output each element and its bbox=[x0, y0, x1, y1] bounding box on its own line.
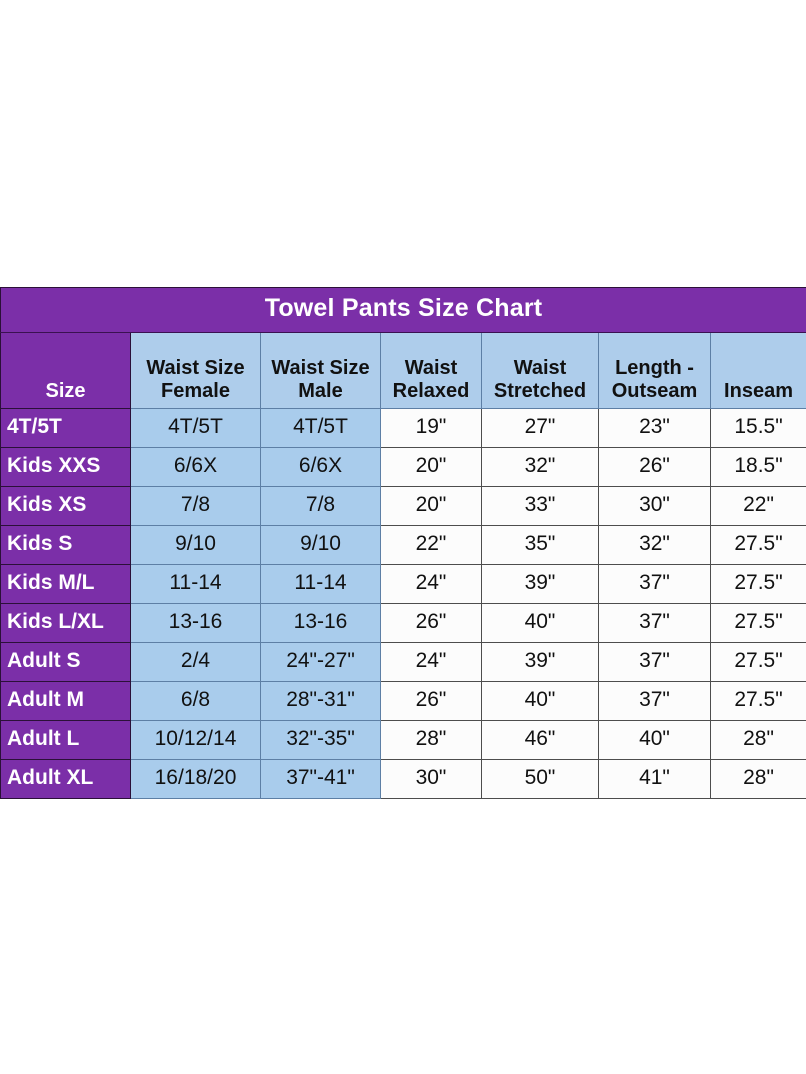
cell-waist-size-male: 24"-27" bbox=[261, 643, 381, 682]
cell-waist-size-female: 2/4 bbox=[131, 643, 261, 682]
cell-waist-size-female: 9/10 bbox=[131, 526, 261, 565]
cell-waist-relaxed: 22" bbox=[381, 526, 482, 565]
column-header-waist-relaxed-line2: Relaxed bbox=[393, 380, 470, 402]
cell-inseam: 18.5" bbox=[711, 448, 806, 487]
row-label-size: Adult XL bbox=[1, 760, 131, 799]
table-row: Adult L10/12/1432"-35"28"46"40"28" bbox=[1, 721, 806, 760]
cell-waist-relaxed: 26" bbox=[381, 604, 482, 643]
table-row: 4T/5T4T/5T4T/5T19"27"23"15.5" bbox=[1, 409, 806, 448]
cell-waist-relaxed: 30" bbox=[381, 760, 482, 799]
cell-waist-size-male: 13-16 bbox=[261, 604, 381, 643]
cell-waist-stretched: 50" bbox=[482, 760, 599, 799]
column-header-size: Size bbox=[1, 333, 131, 409]
towel-pants-size-chart-table: Towel Pants Size Chart Size Waist Size F… bbox=[0, 287, 806, 799]
cell-waist-relaxed: 20" bbox=[381, 448, 482, 487]
row-label-size: 4T/5T bbox=[1, 409, 131, 448]
column-header-waist-stretched-line2: Stretched bbox=[494, 380, 586, 402]
table-row: Kids M/L11-1411-1424"39"37"27.5" bbox=[1, 565, 806, 604]
row-label-size: Kids M/L bbox=[1, 565, 131, 604]
cell-waist-size-male: 37"-41" bbox=[261, 760, 381, 799]
cell-waist-stretched: 46" bbox=[482, 721, 599, 760]
cell-waist-size-male: 4T/5T bbox=[261, 409, 381, 448]
column-header-row: Size Waist Size Female Waist Size Male W… bbox=[1, 333, 806, 409]
column-header-waist-size-male-line2: Male bbox=[298, 380, 342, 402]
cell-inseam: 27.5" bbox=[711, 604, 806, 643]
cell-length-outseam: 30" bbox=[599, 487, 711, 526]
cell-waist-relaxed: 28" bbox=[381, 721, 482, 760]
cell-length-outseam: 41" bbox=[599, 760, 711, 799]
table-row: Adult M6/828"-31"26"40"37"27.5" bbox=[1, 682, 806, 721]
row-label-size: Kids L/XL bbox=[1, 604, 131, 643]
column-header-waist-stretched: Waist Stretched bbox=[482, 333, 599, 409]
table-row: Kids XXS6/6X6/6X20"32"26"18.5" bbox=[1, 448, 806, 487]
size-chart-container: Towel Pants Size Chart Size Waist Size F… bbox=[0, 287, 806, 799]
cell-waist-stretched: 35" bbox=[482, 526, 599, 565]
cell-length-outseam: 37" bbox=[599, 643, 711, 682]
cell-inseam: 28" bbox=[711, 760, 806, 799]
cell-length-outseam: 32" bbox=[599, 526, 711, 565]
cell-inseam: 27.5" bbox=[711, 643, 806, 682]
page-title: Towel Pants Size Chart bbox=[1, 288, 806, 333]
chart-title-row: Towel Pants Size Chart bbox=[1, 288, 806, 333]
table-row: Adult XL16/18/2037"-41"30"50"41"28" bbox=[1, 760, 806, 799]
cell-length-outseam: 26" bbox=[599, 448, 711, 487]
table-row: Kids XS7/87/820"33"30"22" bbox=[1, 487, 806, 526]
row-label-size: Adult S bbox=[1, 643, 131, 682]
cell-length-outseam: 23" bbox=[599, 409, 711, 448]
cell-waist-size-male: 11-14 bbox=[261, 565, 381, 604]
column-header-waist-size-female: Waist Size Female bbox=[131, 333, 261, 409]
cell-inseam: 15.5" bbox=[711, 409, 806, 448]
cell-waist-size-female: 6/6X bbox=[131, 448, 261, 487]
column-header-waist-size-female-line1: Waist Size bbox=[146, 357, 244, 379]
cell-waist-stretched: 39" bbox=[482, 643, 599, 682]
cell-waist-relaxed: 26" bbox=[381, 682, 482, 721]
cell-length-outseam: 40" bbox=[599, 721, 711, 760]
table-row: Adult S2/424"-27"24"39"37"27.5" bbox=[1, 643, 806, 682]
column-header-length-outseam: Length - Outseam bbox=[599, 333, 711, 409]
row-label-size: Adult L bbox=[1, 721, 131, 760]
cell-waist-size-female: 16/18/20 bbox=[131, 760, 261, 799]
cell-inseam: 27.5" bbox=[711, 682, 806, 721]
cell-waist-size-female: 6/8 bbox=[131, 682, 261, 721]
column-header-waist-relaxed: Waist Relaxed bbox=[381, 333, 482, 409]
cell-waist-size-female: 7/8 bbox=[131, 487, 261, 526]
cell-waist-relaxed: 24" bbox=[381, 643, 482, 682]
cell-waist-stretched: 27" bbox=[482, 409, 599, 448]
row-label-size: Kids XS bbox=[1, 487, 131, 526]
column-header-waist-stretched-line1: Waist bbox=[514, 357, 567, 379]
cell-waist-stretched: 33" bbox=[482, 487, 599, 526]
cell-inseam: 28" bbox=[711, 721, 806, 760]
cell-waist-stretched: 32" bbox=[482, 448, 599, 487]
cell-waist-stretched: 39" bbox=[482, 565, 599, 604]
cell-waist-size-male: 9/10 bbox=[261, 526, 381, 565]
cell-length-outseam: 37" bbox=[599, 565, 711, 604]
cell-waist-stretched: 40" bbox=[482, 682, 599, 721]
cell-waist-relaxed: 20" bbox=[381, 487, 482, 526]
cell-inseam: 22" bbox=[711, 487, 806, 526]
column-header-inseam-line2: Inseam bbox=[724, 380, 793, 402]
row-label-size: Kids S bbox=[1, 526, 131, 565]
cell-length-outseam: 37" bbox=[599, 682, 711, 721]
cell-waist-stretched: 40" bbox=[482, 604, 599, 643]
cell-waist-size-male: 7/8 bbox=[261, 487, 381, 526]
row-label-size: Kids XXS bbox=[1, 448, 131, 487]
cell-inseam: 27.5" bbox=[711, 526, 806, 565]
cell-length-outseam: 37" bbox=[599, 604, 711, 643]
size-chart-body: 4T/5T4T/5T4T/5T19"27"23"15.5"Kids XXS6/6… bbox=[1, 409, 806, 799]
column-header-length-outseam-line2: Outseam bbox=[612, 380, 698, 402]
cell-inseam: 27.5" bbox=[711, 565, 806, 604]
column-header-size-line2: Size bbox=[45, 380, 85, 402]
cell-waist-size-male: 6/6X bbox=[261, 448, 381, 487]
column-header-waist-size-male: Waist Size Male bbox=[261, 333, 381, 409]
cell-waist-size-male: 32"-35" bbox=[261, 721, 381, 760]
cell-waist-relaxed: 19" bbox=[381, 409, 482, 448]
cell-waist-relaxed: 24" bbox=[381, 565, 482, 604]
cell-waist-size-female: 13-16 bbox=[131, 604, 261, 643]
cell-waist-size-male: 28"-31" bbox=[261, 682, 381, 721]
column-header-waist-size-male-line1: Waist Size bbox=[271, 357, 369, 379]
column-header-length-outseam-line1: Length - bbox=[615, 357, 694, 379]
cell-waist-size-female: 4T/5T bbox=[131, 409, 261, 448]
table-row: Kids S9/109/1022"35"32"27.5" bbox=[1, 526, 806, 565]
column-header-waist-relaxed-line1: Waist bbox=[405, 357, 458, 379]
column-header-inseam: Inseam bbox=[711, 333, 806, 409]
table-row: Kids L/XL13-1613-1626"40"37"27.5" bbox=[1, 604, 806, 643]
cell-waist-size-female: 10/12/14 bbox=[131, 721, 261, 760]
cell-waist-size-female: 11-14 bbox=[131, 565, 261, 604]
column-header-waist-size-female-line2: Female bbox=[161, 380, 230, 402]
row-label-size: Adult M bbox=[1, 682, 131, 721]
